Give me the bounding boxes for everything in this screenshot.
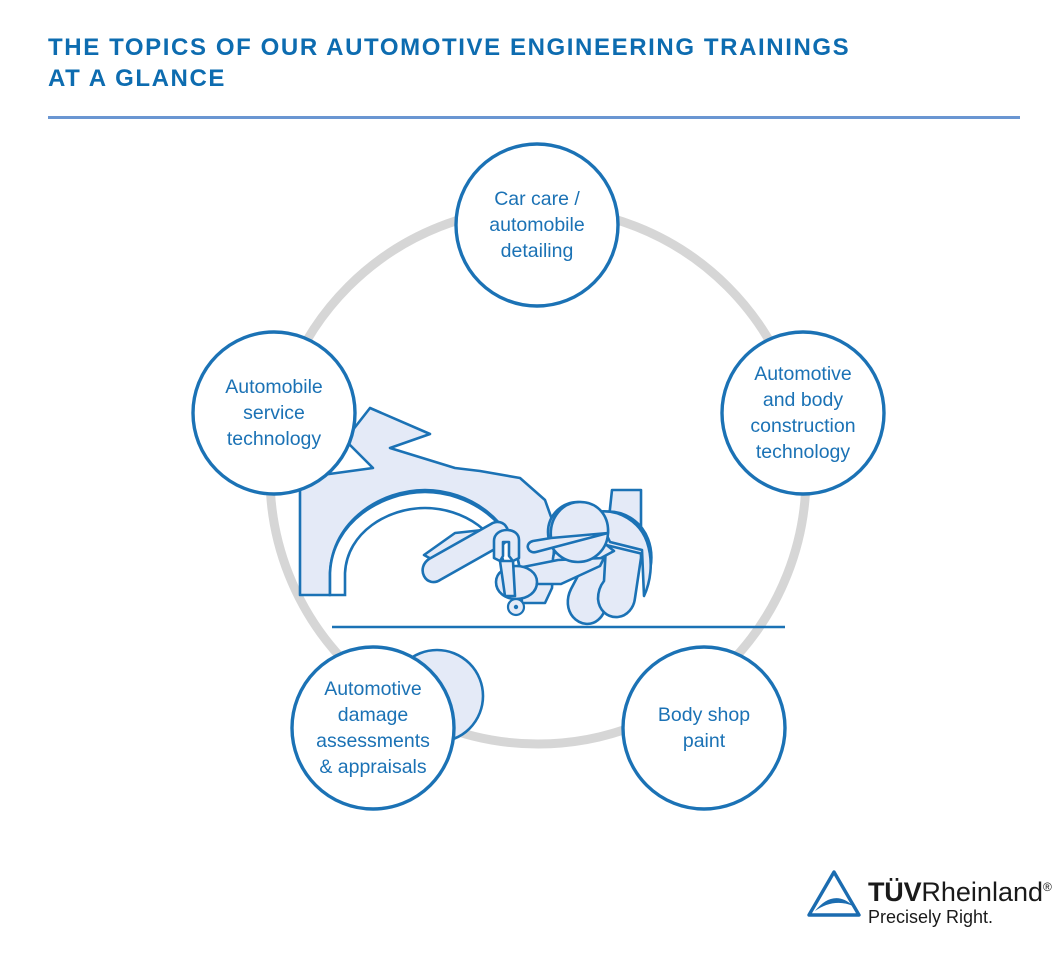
diagram-canvas	[0, 118, 1064, 848]
node-circle-damage-assessments[interactable]	[292, 647, 454, 809]
logo-brand-bold: TÜV	[868, 877, 921, 907]
node-circle-automobile-service-technology[interactable]	[193, 332, 355, 494]
tuv-rheinland-logo: TÜVRheinland® Precisely Right.	[806, 868, 1038, 936]
page-header: THE TOPICS OF OUR AUTOMOTIVE ENGINEERING…	[48, 32, 1028, 94]
mechanic-hand-dot	[514, 605, 518, 609]
infographic-diagram: Car care / automobile detailing Automoti…	[0, 118, 1064, 848]
triangle-swoosh	[815, 898, 853, 911]
cycle-nodes	[193, 144, 884, 809]
logo-brand-regular: Rheinland	[921, 877, 1043, 907]
triangle-outline	[809, 872, 859, 915]
page-title: THE TOPICS OF OUR AUTOMOTIVE ENGINEERING…	[48, 32, 1028, 94]
logo-wordmark: TÜVRheinland®	[868, 872, 1052, 907]
node-circle-car-care[interactable]	[456, 144, 618, 306]
logo-tagline: Precisely Right.	[868, 906, 993, 928]
node-circle-body-shop-paint[interactable]	[623, 647, 785, 809]
registered-mark-icon: ®	[1043, 880, 1052, 894]
tuv-triangle-icon	[806, 870, 862, 920]
node-circle-automotive-body-construction[interactable]	[722, 332, 884, 494]
